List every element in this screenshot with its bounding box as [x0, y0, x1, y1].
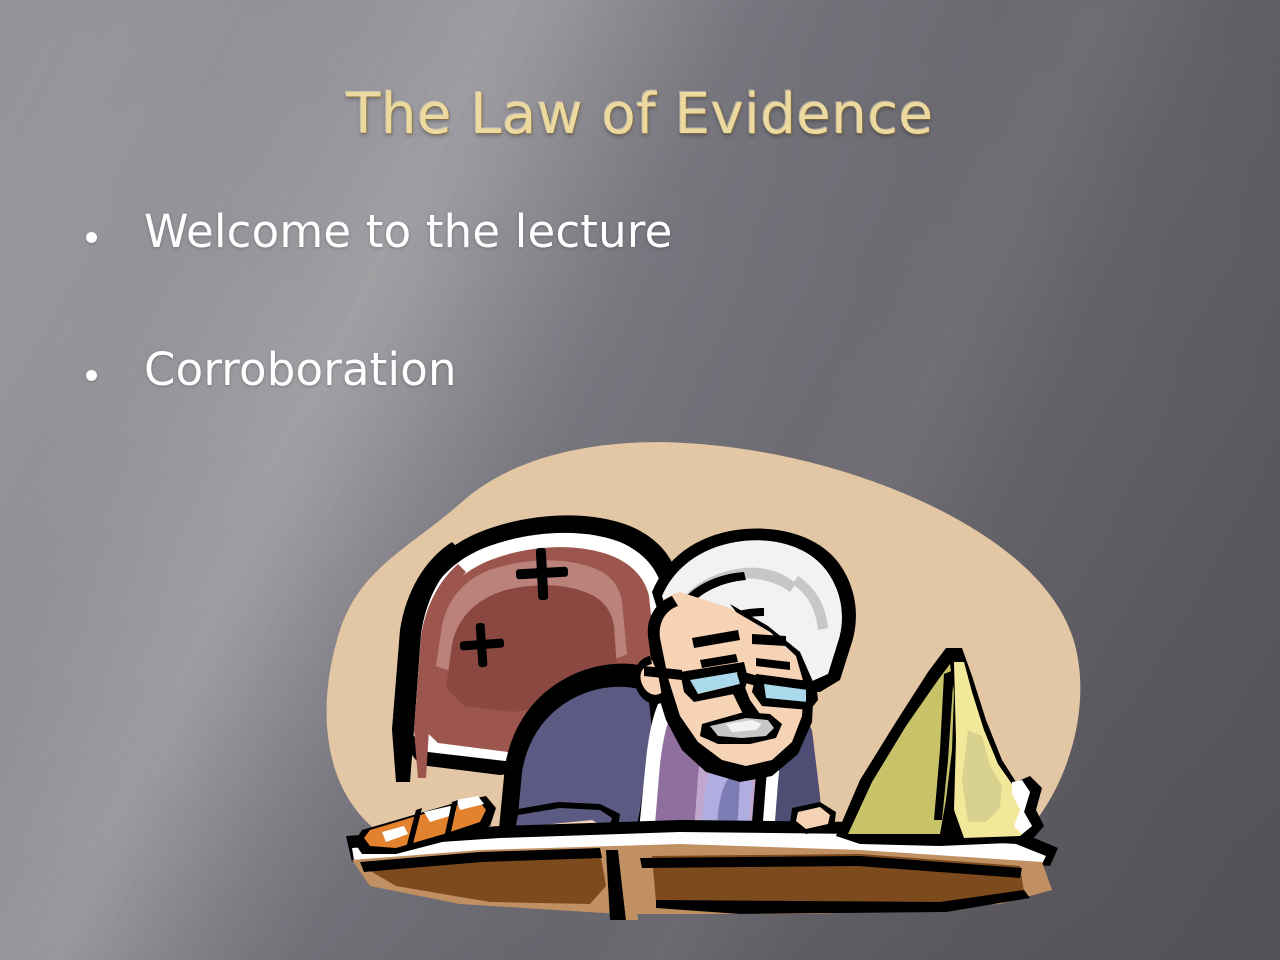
- bullet-item: Welcome to the lecture: [86, 206, 1086, 258]
- bullet-dot-icon: [86, 370, 97, 381]
- bullet-item-label: Welcome to the lecture: [144, 206, 672, 258]
- presentation-slide: The Law of Evidence Welcome to the lectu…: [0, 0, 1280, 960]
- bullet-item-label: Corroboration: [144, 344, 457, 396]
- slide-title: The Law of Evidence: [0, 82, 1280, 147]
- bullet-item: Corroboration: [86, 344, 1086, 396]
- judge-at-bench-illustration: [300, 430, 1100, 920]
- bullet-dot-icon: [86, 232, 97, 243]
